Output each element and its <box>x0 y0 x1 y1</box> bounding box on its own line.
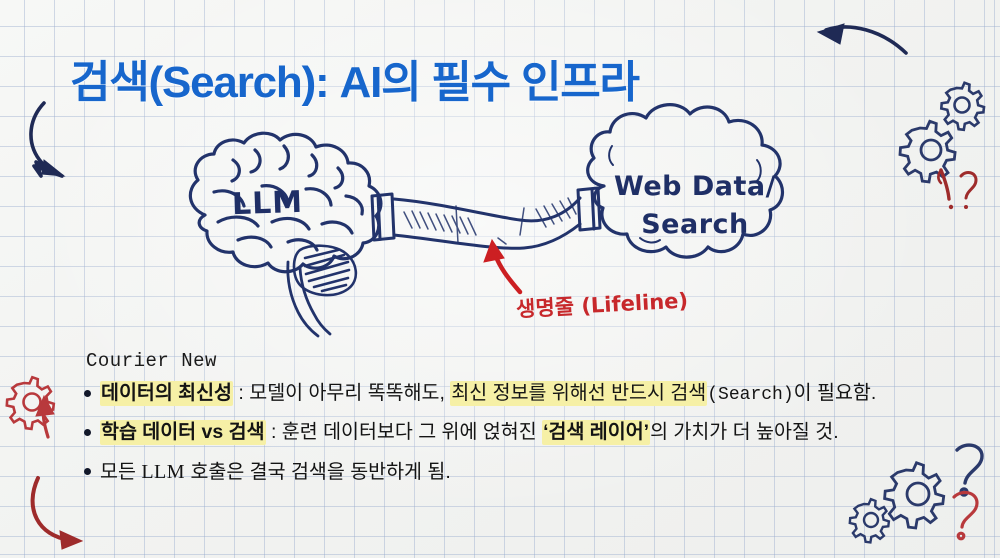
question-bottom-navy <box>957 445 982 495</box>
bullet-segment: 최신 정보를 위해선 반드시 검색 <box>450 381 707 406</box>
cable-collar-right <box>578 188 600 230</box>
gear-bottom-right-small <box>850 499 889 542</box>
list-item: 모든 LLM 호출은 결국 검색을 동반하게 됨. <box>84 457 950 488</box>
cloud-label-line1: Web Data/ <box>600 168 790 206</box>
bullet-marker <box>84 390 91 397</box>
bullet-list: 데이터의 최신성 : 모델이 아무리 똑똑해도, 최신 정보를 위해선 반드시 … <box>84 379 950 488</box>
bullet-text: 데이터의 최신성 : 모델이 아무리 똑똑해도, 최신 정보를 위해선 반드시 … <box>100 379 950 409</box>
bullet-segment: 모든 <box>100 461 141 483</box>
bullet-segment: 호출은 결국 검색을 동반하게 됨. <box>185 461 451 483</box>
cable-collar-left <box>372 194 394 240</box>
arrow-top-right <box>818 24 906 53</box>
arrow-top-left <box>31 103 64 176</box>
bullet-segment: : 훈련 데이터보다 그 위에 얹혀진 <box>266 421 543 443</box>
page-title: 검색(Search): AI의 필수 인프라 <box>70 46 639 110</box>
bullet-segment: LLM <box>141 461 185 483</box>
slide-canvas: 검색(Search): AI의 필수 인프라 <box>0 0 1000 558</box>
bullet-marker <box>84 429 91 436</box>
list-item: 학습 데이터 vs 검색 : 훈련 데이터보다 그 위에 얹혀진 ‘검색 레이어… <box>84 418 950 448</box>
question-right <box>961 173 976 209</box>
font-note-label: Courier New <box>86 350 217 372</box>
arrow-lifeline-red <box>484 240 520 292</box>
brain-stem-shape <box>288 262 330 336</box>
cable-texture <box>404 198 576 244</box>
bullet-segment: 학습 데이터 vs 검색 <box>100 420 266 445</box>
cable-shape <box>394 198 580 248</box>
bullet-segment: 이 필요함. <box>794 382 877 404</box>
bullet-segment: 의 가치가 더 높아질 것. <box>650 421 839 443</box>
arrow-bottom-left-red <box>33 478 82 549</box>
gear-top-right-large <box>900 121 955 182</box>
cloud-label: Web Data/ Search <box>600 168 790 245</box>
bullet-text: 학습 데이터 vs 검색 : 훈련 데이터보다 그 위에 얹혀진 ‘검색 레이어… <box>100 418 950 448</box>
brain-label: LLM <box>231 185 303 222</box>
bullet-marker <box>84 468 91 475</box>
arrow-left-red <box>36 396 54 437</box>
bullet-text: 모든 LLM 호출은 결국 검색을 동반하게 됨. <box>100 457 950 488</box>
gear-left-red <box>7 377 54 429</box>
bullet-segment: ‘검색 레이어’ <box>542 420 650 445</box>
bullet-segment: : 모델이 아무리 똑똑해도, <box>233 382 450 404</box>
list-item: 데이터의 최신성 : 모델이 아무리 똑똑해도, 최신 정보를 위해선 반드시 … <box>84 379 950 409</box>
exclamation-right <box>938 170 953 209</box>
bullet-segment: (Search) <box>707 385 793 405</box>
bullet-segment: 데이터의 최신성 <box>100 381 233 406</box>
cloud-label-line2: Search <box>600 206 790 244</box>
gear-top-right-small <box>941 83 984 130</box>
question-bottom-red <box>954 492 977 538</box>
lifeline-annotation: 생명줄 (Lifeline) <box>515 285 688 324</box>
cerebellum-shape <box>294 246 356 295</box>
